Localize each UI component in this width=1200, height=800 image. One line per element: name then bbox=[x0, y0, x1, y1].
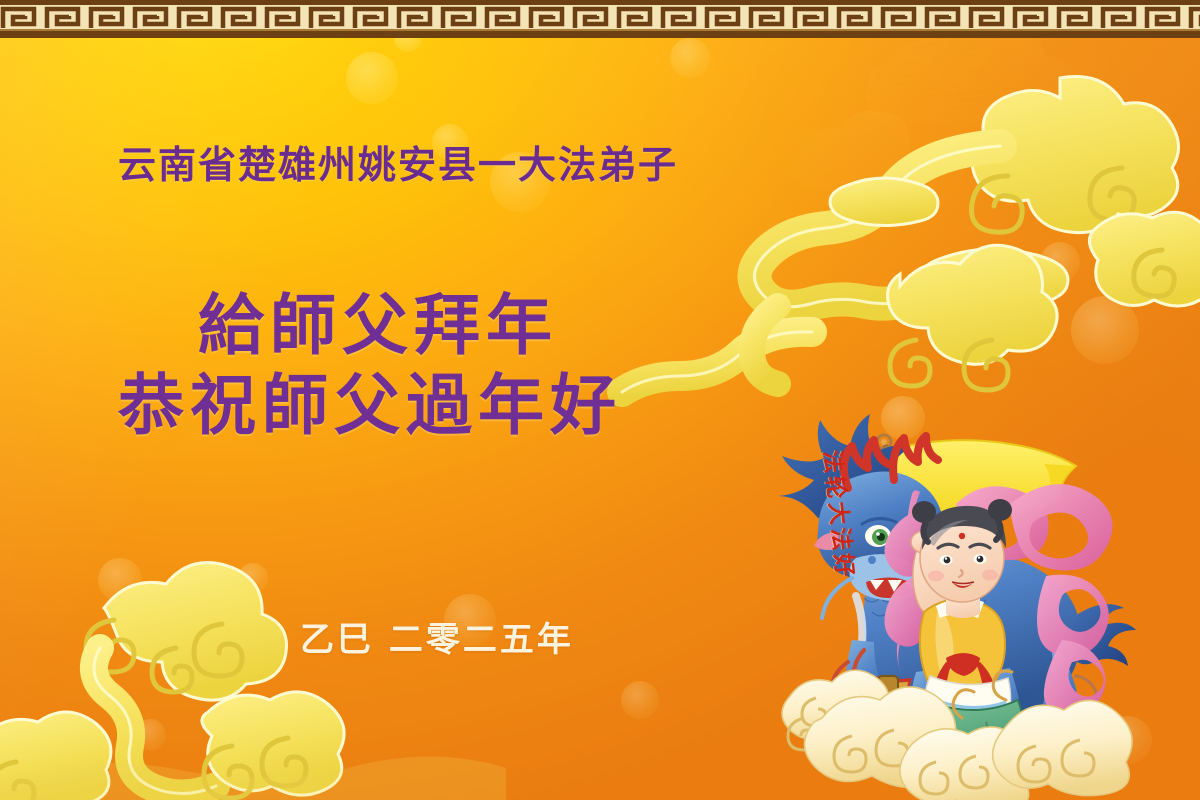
chinese-meander-key-border bbox=[0, 0, 1200, 38]
date-label: 乙巳 二零二五年 bbox=[300, 612, 574, 661]
dafa-banner bbox=[877, 435, 1076, 600]
page-title: 云南省楚雄州姚安县一大法弟子 bbox=[118, 134, 678, 189]
bokeh-circle bbox=[238, 563, 268, 593]
new-year-greeting-card: 云南省楚雄州姚安县一大法弟子 給師父拜年 恭祝師父過年好 乙巳 二零二五年 bbox=[0, 0, 1200, 800]
child-figure bbox=[911, 499, 1035, 786]
cloud-top-right bbox=[622, 76, 1200, 392]
bokeh-circle bbox=[881, 396, 925, 440]
bokeh-circle bbox=[134, 719, 166, 751]
bokeh-circle bbox=[346, 52, 398, 104]
bokeh-circle bbox=[225, 589, 239, 603]
bokeh-circle bbox=[1040, 242, 1080, 282]
bokeh-circle bbox=[621, 681, 659, 719]
bokeh-circle bbox=[670, 38, 710, 78]
pink-ribbons bbox=[884, 484, 1112, 717]
banner-slogan: 法轮大法好 bbox=[817, 448, 864, 581]
illustration-foot-clouds bbox=[782, 670, 1132, 800]
greeting-line-2: 恭祝師父過年好 bbox=[118, 352, 622, 448]
bokeh-circle bbox=[1071, 296, 1139, 364]
cloud-bottom-left bbox=[0, 563, 506, 800]
bokeh-circle bbox=[98, 558, 142, 602]
bokeh-circle bbox=[1104, 716, 1152, 764]
